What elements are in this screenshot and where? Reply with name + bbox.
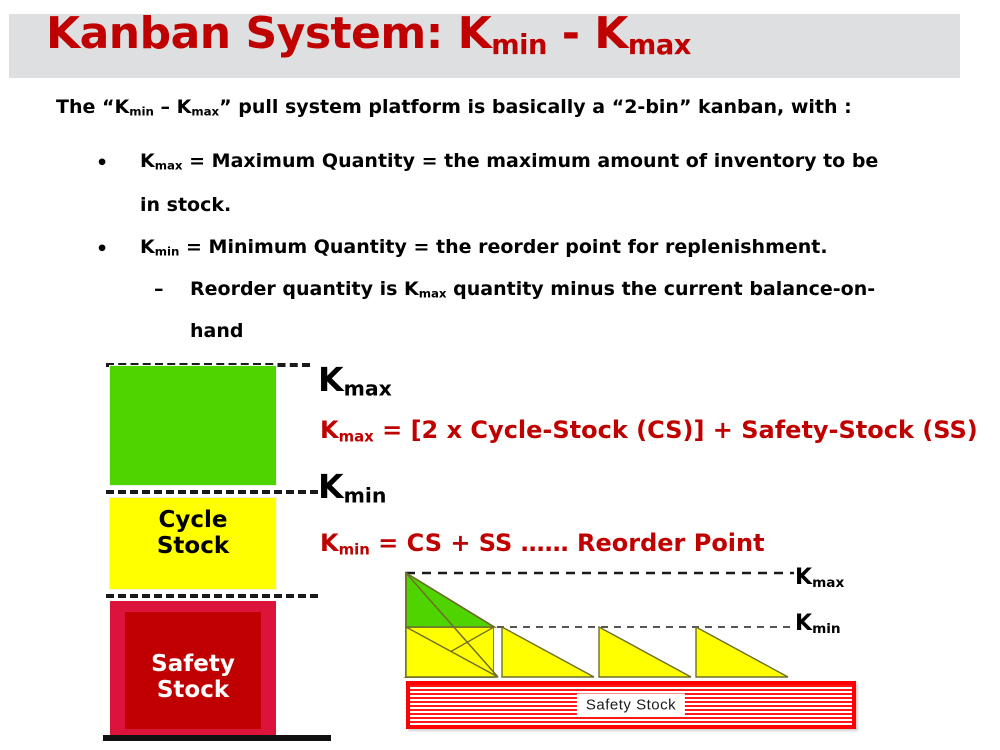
stack-baseline — [103, 735, 331, 741]
kmin-dashed-line — [106, 490, 318, 494]
bullet-2-sub: min — [155, 245, 180, 259]
saw-kmin-lead: K — [795, 611, 812, 636]
saw-kmax-label: Kmax — [795, 567, 844, 591]
bullet-marker-1: • — [96, 152, 108, 174]
kmax-big-sub: max — [344, 377, 392, 401]
title-sub-max: max — [628, 30, 691, 61]
cycle-stock-label: Cycle Stock — [110, 508, 276, 560]
title-mid: - K — [547, 8, 628, 59]
bullet-1-text: = Maximum Quantity = the maximum amount … — [183, 150, 879, 172]
intro-sub-max: max — [191, 105, 219, 119]
saw-kmax-sub: max — [812, 575, 844, 591]
title-sub-min: min — [491, 30, 547, 61]
sawtooth-safety-stock-label: Safety Stock — [577, 694, 685, 717]
saw-kmin-sub: min — [812, 621, 841, 637]
sawtooth-safety-stock-bar: Safety Stock — [406, 681, 856, 729]
kmax-big-label: Kmax — [318, 363, 392, 399]
page-title: Kanban System: Kmin - Kmax — [46, 12, 691, 59]
bullet-2-text: = Minimum Quantity = the reorder point f… — [179, 236, 827, 258]
intro-a: The “K — [56, 96, 129, 118]
stack-block-cycle-stock: Cycle Stock — [110, 498, 276, 589]
kmax-formula-rest: = [2 x Cycle-Stock (CS)] + Safety-Stock … — [374, 416, 978, 444]
subbullet-line-cont: hand — [190, 322, 243, 341]
subbullet-marker: – — [154, 278, 164, 300]
kmin-big-sub: min — [344, 484, 387, 508]
saw-tooth-4 — [696, 627, 788, 677]
bullet-1-lead: K — [140, 150, 155, 172]
cycle-stock-label-line2: Stock — [157, 533, 229, 559]
safety-stock-label-line2: Stock — [157, 677, 229, 703]
stack-block-safety-stock: Safety Stock — [110, 601, 276, 735]
kmin-formula: Kmin = CS + SS …… Reorder Point — [320, 531, 765, 557]
bullet-line-1-cont: in stock. — [140, 196, 231, 215]
saw-kmin-label: Kmin — [795, 613, 841, 637]
bullet-2-lead: K — [140, 236, 155, 258]
subbullet-line: Reorder quantity is Kmax quantity minus … — [190, 280, 875, 300]
stack-block-green — [110, 366, 276, 485]
cycle-stock-label-line1: Cycle — [159, 507, 228, 533]
bullet-1-sub: max — [155, 159, 183, 173]
kmax-big-lead: K — [318, 360, 344, 399]
kmax-formula-sub: max — [339, 427, 374, 445]
saw-green-peak — [406, 573, 494, 627]
kmin-formula-lead: K — [320, 529, 339, 557]
safety-stock-inner-panel: Safety Stock — [125, 612, 261, 729]
slide-canvas: Kanban System: Kmin - Kmax The “Kmin – K… — [0, 0, 1000, 750]
saw-kmax-lead: K — [795, 565, 812, 590]
kmin-big-lead: K — [318, 467, 344, 506]
kmin-big-label: Kmin — [318, 470, 386, 506]
intro-line: The “Kmin – Kmax” pull system platform i… — [56, 98, 852, 118]
bullet-line-1: Kmax = Maximum Quantity = the maximum am… — [140, 152, 878, 172]
saw-tooth-2 — [502, 627, 594, 677]
safety-stock-dashed-line — [106, 594, 318, 598]
subbullet-a: Reorder quantity is K — [190, 278, 419, 300]
kmin-formula-sub: min — [339, 540, 370, 558]
subbullet-sub: max — [419, 287, 447, 301]
bullet-line-2: Kmin = Minimum Quantity = the reorder po… — [140, 238, 828, 258]
kmax-formula: Kmax = [2 x Cycle-Stock (CS)] + Safety-S… — [320, 418, 978, 444]
kmax-formula-lead: K — [320, 416, 339, 444]
kmin-formula-rest: = CS + SS …… Reorder Point — [370, 529, 765, 557]
bullet-marker-2: • — [96, 238, 108, 260]
sawtooth-inventory-chart — [398, 565, 858, 695]
subbullet-b: quantity minus the current balance-on- — [447, 278, 876, 300]
title-prefix: Kanban System: K — [46, 8, 491, 59]
safety-stock-label-line1: Safety — [151, 651, 235, 677]
intro-sub-min: min — [129, 105, 154, 119]
intro-b: – K — [154, 96, 191, 118]
intro-c: ” pull system platform is basically a “2… — [219, 96, 852, 118]
safety-stock-label: Safety Stock — [125, 652, 261, 704]
saw-tooth-3 — [599, 627, 691, 677]
